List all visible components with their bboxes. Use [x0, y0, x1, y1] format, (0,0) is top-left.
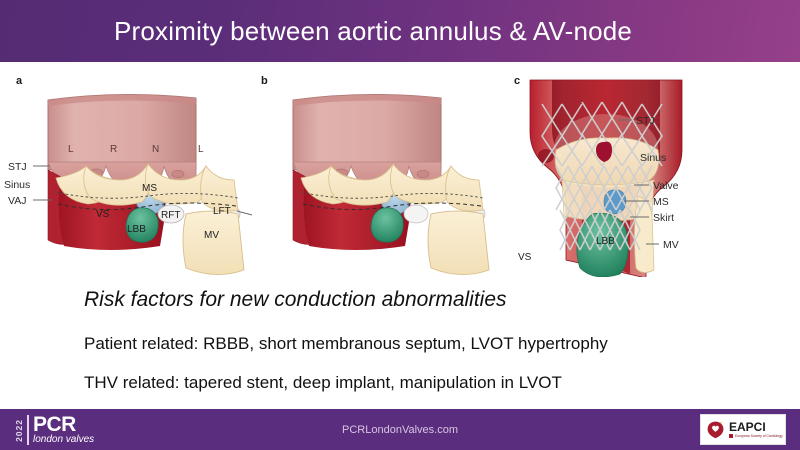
- risk-factors-heading: Risk factors for new conduction abnormal…: [84, 288, 507, 312]
- label-mv-a: MV: [204, 230, 219, 241]
- mitral-valve-a: [183, 211, 244, 275]
- figure-svg: a L R N L STJ: [0, 62, 800, 277]
- anatomical-figure: a L R N L STJ: [0, 62, 800, 277]
- right-fibrous-trigone-b: [404, 205, 428, 223]
- label-ms-c: MS: [653, 196, 669, 208]
- patient-related-line: Patient related: RBBB, short membranous …: [84, 334, 608, 354]
- cusp-label-r-a: R: [110, 144, 117, 155]
- label-mv-c: MV: [663, 239, 679, 251]
- label-stj-c: STJ: [636, 115, 655, 127]
- label-vs-a: VS: [96, 209, 110, 220]
- eapci-logo: EAPCI European Society of Cardiology: [700, 414, 786, 445]
- cusp-label-l2-a: L: [198, 144, 204, 155]
- label-lft-a: LFT: [213, 206, 231, 217]
- panel-a: a L R N L STJ: [4, 75, 252, 275]
- esc-mark-icon: [729, 434, 733, 438]
- eapci-name: EAPCI: [729, 421, 783, 433]
- panel-c-letter: c: [514, 75, 520, 87]
- eapci-subrow: European Society of Cardiology: [729, 433, 783, 439]
- panel-c: c: [514, 75, 682, 277]
- panel-b-letter: b: [261, 75, 268, 87]
- label-valve-c: Valve: [653, 180, 679, 192]
- slide-title-bar: Proximity between aortic annulus & AV-no…: [0, 0, 800, 62]
- label-lbb-c: LBB: [596, 236, 615, 247]
- label-vs-c: VS: [518, 252, 532, 263]
- label-lbb-a: LBB: [127, 224, 146, 235]
- label-rft-a: RFT: [161, 210, 180, 221]
- panel-a-letter: a: [16, 75, 23, 87]
- thv-related-line: THV related: tapered stent, deep implant…: [84, 373, 562, 393]
- panel-b: b: [261, 75, 489, 275]
- aorta-wall-a: [48, 94, 196, 170]
- content-block: Risk factors for new conduction abnormal…: [0, 278, 800, 408]
- eapci-subtitle: European Society of Cardiology: [735, 434, 783, 439]
- left-bundle-branch-b: [371, 208, 403, 242]
- label-sinus-c: Sinus: [640, 152, 666, 164]
- label-sinus-a: Sinus: [4, 179, 30, 191]
- slide-title: Proximity between aortic annulus & AV-no…: [0, 16, 632, 47]
- label-ms-a: MS: [142, 183, 157, 194]
- cusp-label-n-a: N: [152, 144, 159, 155]
- slide-footer: 2022 PCR london valves PCRLondonValves.c…: [0, 409, 800, 450]
- coronary-ostium-left-b: [417, 170, 429, 177]
- footer-url: PCRLondonValves.com: [0, 409, 800, 450]
- mitral-valve-b: [428, 211, 489, 275]
- coronary-ostium-left-a: [172, 170, 184, 177]
- aorta-wall-b: [293, 94, 441, 170]
- label-stj-a: STJ: [8, 161, 27, 173]
- cusp-label-l1-a: L: [68, 144, 74, 155]
- heart-icon: [706, 420, 725, 439]
- eapci-text: EAPCI European Society of Cardiology: [729, 421, 783, 439]
- label-vaj-a: VAJ: [8, 195, 26, 207]
- label-skirt-c: Skirt: [653, 212, 674, 224]
